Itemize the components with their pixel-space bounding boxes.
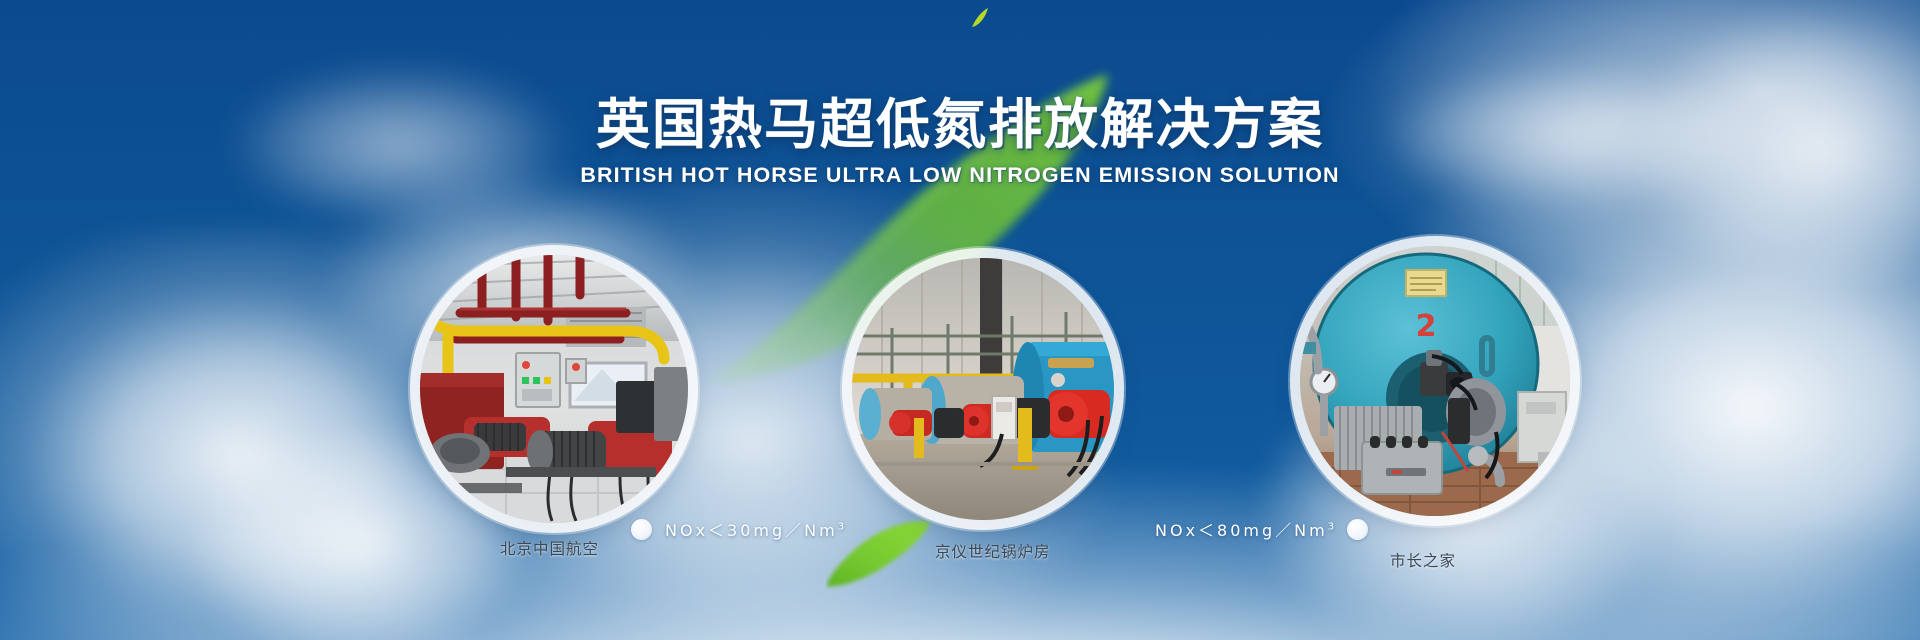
case-photo-circle-3[interactable]: 2	[1300, 246, 1570, 516]
case-photo-circle-2[interactable]	[852, 258, 1114, 520]
page-title: 英国热马超低氮排放解决方案	[0, 96, 1920, 154]
page-subtitle: BRITISH HOT HORSE ULTRA LOW NITROGEN EMI…	[0, 163, 1920, 188]
case-caption-2: 京仪世纪锅炉房	[935, 540, 1051, 562]
nox-value-2: NOx＜80mg／Nm3	[1155, 517, 1334, 541]
nox-dot-marker	[1347, 519, 1368, 540]
case-caption-1: 北京中国航空	[500, 537, 599, 559]
leaf-icon	[966, 6, 992, 32]
svg-text:2: 2	[1416, 309, 1437, 344]
boiler-room-photo-3: 2	[1300, 246, 1570, 516]
nox-value-1: NOx＜30mg／Nm3	[665, 517, 844, 541]
nox-tag-2: NOx＜80mg／Nm3	[1155, 517, 1368, 541]
hero-banner: 英国热马超低氮排放解决方案 BRITISH HOT HORSE ULTRA LO…	[0, 0, 1920, 640]
case-caption-3: 市长之家	[1390, 549, 1456, 571]
case-photo-circle-1[interactable]	[420, 255, 688, 523]
nox-dot-marker	[631, 519, 652, 540]
boiler-room-photo-1	[420, 255, 688, 523]
nox-tag-1: NOx＜30mg／Nm3	[631, 517, 844, 541]
boiler-room-photo-2	[852, 258, 1114, 520]
banner-heading-group: 英国热马超低氮排放解决方案 BRITISH HOT HORSE ULTRA LO…	[0, 96, 1920, 188]
